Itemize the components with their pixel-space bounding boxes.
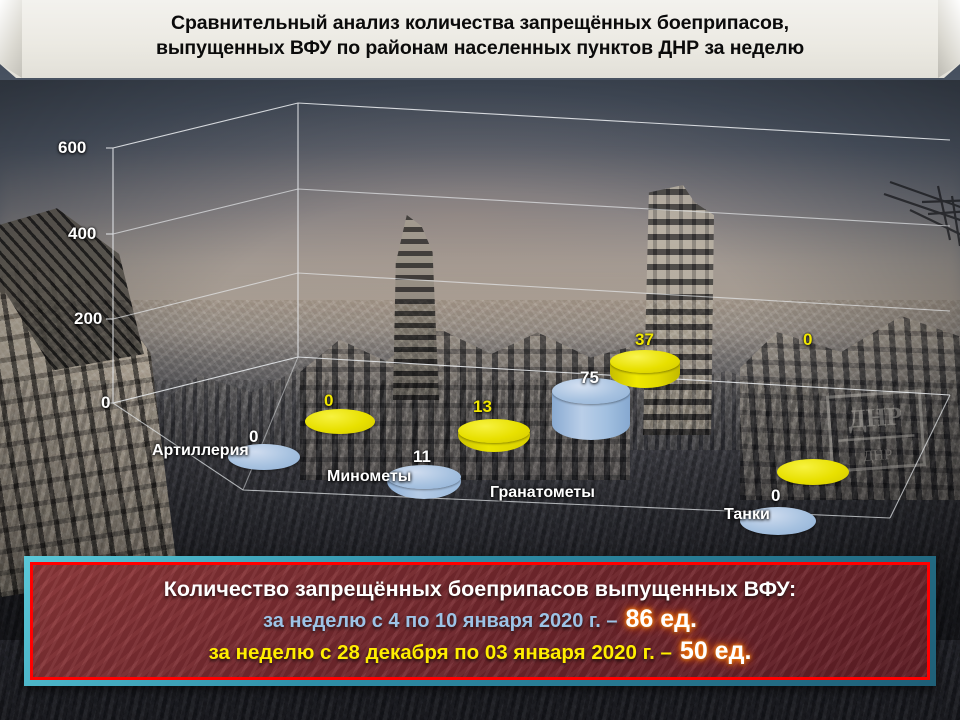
chart-3d-column: 600 400 200 0 0 0 Артиллерия 11 13 Мином… — [0, 78, 960, 548]
bar-yellow-tanks[interactable] — [777, 459, 849, 485]
value-blue-grenade-launchers: 75 — [580, 368, 599, 388]
bar-yellow-tanks-cap — [777, 459, 849, 485]
bar-yellow-artillery[interactable] — [305, 409, 375, 434]
bar-yellow-artillery-cap — [305, 409, 375, 434]
summary-heading: Количество запрещённых боеприпасов выпущ… — [164, 577, 796, 602]
summary-row-current: за неделю с 4 по 10 января 2020 г. – 86 … — [263, 605, 697, 634]
summary-row-previous-value: 50 ед. — [680, 637, 751, 666]
y-tick-400: 400 — [68, 224, 96, 244]
category-label-artillery: Артиллерия — [152, 442, 249, 460]
value-yellow-tanks: 0 — [803, 330, 812, 350]
category-label-grenade-launchers: Гранатометы — [490, 484, 595, 502]
y-tick-0: 0 — [101, 393, 110, 413]
value-blue-artillery: 0 — [249, 427, 258, 447]
category-label-mortars: Минометы — [327, 468, 411, 486]
value-yellow-artillery: 0 — [324, 391, 333, 411]
y-tick-600: 600 — [58, 138, 86, 158]
bar-yellow-grenade-launchers-cap — [610, 350, 680, 373]
bar-yellow-grenade-launchers[interactable] — [610, 350, 680, 388]
value-yellow-grenade-launchers: 37 — [635, 330, 654, 350]
value-blue-tanks: 0 — [771, 486, 780, 506]
y-tick-200: 200 — [74, 309, 102, 329]
page-title-line2: выпущенных ВФУ по районам населенных пун… — [156, 37, 804, 60]
page-title-line1: Сравнительный анализ количества запрещён… — [171, 12, 789, 35]
summary-row-current-value: 86 ед. — [625, 605, 696, 634]
summary-row-previous-label: за неделю с 28 декабря по 03 января 2020… — [209, 641, 672, 665]
summary-panel: Количество запрещённых боеприпасов выпущ… — [24, 556, 936, 686]
bar-yellow-mortars[interactable] — [458, 419, 530, 452]
summary-row-previous: за неделю с 28 декабря по 03 января 2020… — [209, 637, 752, 666]
value-yellow-mortars: 13 — [473, 397, 492, 417]
summary-row-current-label: за неделю с 4 по 10 января 2020 г. – — [263, 610, 617, 633]
title-banner: Сравнительный анализ количества запрещён… — [0, 0, 960, 78]
slide-root: ДНР ДНР Сравнительный анализ количества … — [0, 0, 960, 720]
category-label-tanks: Танки — [724, 506, 770, 524]
summary-panel-body: Количество запрещённых боеприпасов выпущ… — [30, 562, 930, 680]
value-blue-mortars: 11 — [413, 447, 431, 467]
bar-yellow-mortars-cap — [458, 419, 530, 443]
